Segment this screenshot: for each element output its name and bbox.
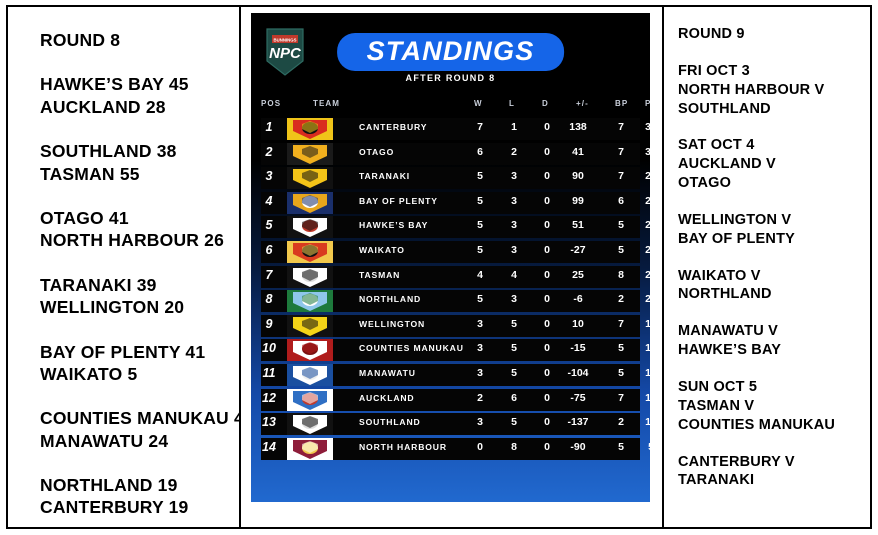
north-harbour-crest-icon — [287, 438, 333, 460]
result-line: COUNTIES MANUKAU 48 — [40, 407, 239, 429]
row-points-diff: -6 — [565, 293, 591, 305]
fixture-line: NORTHLAND — [678, 285, 870, 304]
row-losses: 3 — [501, 244, 527, 256]
row-losses: 5 — [501, 318, 527, 330]
row-draws: 0 — [534, 342, 560, 354]
result-block: HAWKE’S BAY 45AUCKLAND 28 — [40, 73, 239, 118]
fixture-line: NORTH HARBOUR V — [678, 81, 870, 100]
standings-row[interactable]: 11MANAWATU350-104517 — [251, 363, 650, 388]
row-draws: 0 — [534, 269, 560, 281]
waikato-crest-icon — [287, 241, 333, 263]
standings-row[interactable]: 5HAWKE’S BAY53051525 — [251, 215, 650, 240]
row-position: 7 — [259, 268, 279, 282]
row-bonus-points: 7 — [608, 121, 634, 133]
result-block: NORTHLAND 19CANTERBURY 19 — [40, 474, 239, 519]
standings-row[interactable]: 1CANTERBURY710138735 — [251, 117, 650, 142]
row-bonus-points: 7 — [608, 318, 634, 330]
row-points-diff: 10 — [565, 318, 591, 330]
row-draws: 0 — [534, 121, 560, 133]
row-team-name: WAIKATO — [359, 245, 405, 255]
row-losses: 3 — [501, 219, 527, 231]
column-header-d: D — [542, 99, 549, 108]
fixture-line: COUNTIES MANUKAU — [678, 416, 870, 435]
row-points-diff: -137 — [565, 416, 591, 428]
standings-row[interactable]: 12AUCKLAND260-75715 — [251, 388, 650, 413]
row-wins: 5 — [467, 293, 493, 305]
standings-title-pill: STANDINGS — [337, 33, 565, 71]
row-wins: 3 — [467, 318, 493, 330]
row-team-name: TASMAN — [359, 270, 400, 280]
counties-manukau-crest-icon — [287, 339, 333, 361]
row-position: 12 — [259, 391, 279, 405]
hawkes-bay-crest-icon — [287, 216, 333, 238]
row-losses: 3 — [501, 195, 527, 207]
row-position: 11 — [259, 366, 279, 380]
row-losses: 5 — [501, 342, 527, 354]
fixture-block: WAIKATO VNORTHLAND — [678, 267, 870, 305]
round-9-heading-block: ROUND 9 — [678, 25, 870, 44]
row-points-diff: -75 — [565, 392, 591, 404]
standings-graphic-panel: BUNNINGS NPC STANDINGS AFTER ROUND 8 POS… — [241, 7, 664, 527]
row-bonus-points: 6 — [608, 195, 634, 207]
standings-row[interactable]: 2OTAGO62041731 — [251, 142, 650, 167]
fixture-line: SOUTHLAND — [678, 100, 870, 119]
row-points-diff: 99 — [565, 195, 591, 207]
result-line: NORTH HARBOUR 26 — [40, 229, 239, 251]
fixture-line: SAT OCT 4 — [678, 136, 870, 155]
row-position: 14 — [259, 440, 279, 454]
row-bonus-points: 2 — [608, 293, 634, 305]
row-team-name: AUCKLAND — [359, 393, 415, 403]
row-wins: 5 — [467, 195, 493, 207]
fixture-block: CANTERBURY VTARANAKI — [678, 453, 870, 491]
row-losses: 3 — [501, 293, 527, 305]
fixture-line: BAY OF PLENTY — [678, 230, 870, 249]
row-team-name: NORTHLAND — [359, 294, 421, 304]
row-wins: 0 — [467, 441, 493, 453]
svg-text:NPC: NPC — [269, 45, 302, 62]
row-points: 22 — [638, 293, 650, 305]
row-points-diff: 138 — [565, 121, 591, 133]
taranaki-crest-icon — [287, 167, 333, 189]
row-losses: 3 — [501, 170, 527, 182]
row-points: 17 — [638, 367, 650, 379]
row-team-name: CANTERBURY — [359, 122, 427, 132]
svg-text:BUNNINGS: BUNNINGS — [274, 37, 297, 42]
standings-graphic: BUNNINGS NPC STANDINGS AFTER ROUND 8 POS… — [251, 13, 650, 502]
row-wins: 5 — [467, 170, 493, 182]
row-wins: 7 — [467, 121, 493, 133]
fixture-line: MANAWATU V — [678, 322, 870, 341]
column-header-l: L — [509, 99, 515, 108]
row-team-name: SOUTHLAND — [359, 417, 421, 427]
row-points: 25 — [638, 244, 650, 256]
row-position: 13 — [259, 415, 279, 429]
row-position: 6 — [259, 243, 279, 257]
row-wins: 5 — [467, 219, 493, 231]
standings-row[interactable]: 14NORTH HARBOUR080-9055 — [251, 437, 650, 462]
row-points: 25 — [638, 219, 650, 231]
result-line: HAWKE’S BAY 45 — [40, 73, 239, 95]
round-9-fixtures-list: FRI OCT 3NORTH HARBOUR VSOUTHLANDSAT OCT… — [678, 62, 870, 490]
row-losses: 2 — [501, 146, 527, 158]
fixture-line: TARANAKI — [678, 471, 870, 490]
result-line: BAY OF PLENTY 41 — [40, 341, 239, 363]
result-block: OTAGO 41NORTH HARBOUR 26 — [40, 207, 239, 252]
row-points: 27 — [638, 170, 650, 182]
row-wins: 2 — [467, 392, 493, 404]
row-position: 2 — [259, 145, 279, 159]
fixture-line: AUCKLAND V — [678, 155, 870, 174]
row-team-name: TARANAKI — [359, 171, 410, 181]
row-bonus-points: 5 — [608, 244, 634, 256]
row-wins: 3 — [467, 367, 493, 379]
row-wins: 5 — [467, 244, 493, 256]
standings-row[interactable]: 10COUNTIES MANUKAU350-15517 — [251, 338, 650, 363]
row-points-diff: 51 — [565, 219, 591, 231]
row-bonus-points: 2 — [608, 416, 634, 428]
row-points-diff: -27 — [565, 244, 591, 256]
row-points-diff: 90 — [565, 170, 591, 182]
result-line: AUCKLAND 28 — [40, 96, 239, 118]
three-column-frame: ROUND 8 HAWKE’S BAY 45AUCKLAND 28SOUTHLA… — [6, 5, 872, 529]
standings-header: BUNNINGS NPC STANDINGS AFTER ROUND 8 — [251, 13, 650, 97]
auckland-crest-icon — [287, 389, 333, 411]
row-position: 5 — [259, 218, 279, 232]
result-block: BAY OF PLENTY 41WAIKATO 5 — [40, 341, 239, 386]
standings-subtitle: AFTER ROUND 8 — [406, 73, 496, 83]
standings-column-headers: POS TEAM W L D +/- BP PTS — [251, 99, 650, 115]
standings-row[interactable]: 6WAIKATO530-27525 — [251, 240, 650, 265]
fixture-line: WELLINGTON V — [678, 211, 870, 230]
result-block: COUNTIES MANUKAU 48MANAWATU 24 — [40, 407, 239, 452]
row-position: 10 — [259, 341, 279, 355]
round-8-heading: ROUND 8 — [40, 29, 239, 51]
result-line: SOUTHLAND 38 — [40, 140, 239, 162]
result-line: TARANAKI 39 — [40, 274, 239, 296]
tasman-crest-icon — [287, 266, 333, 288]
otago-crest-icon — [287, 143, 333, 165]
column-header-pos: POS — [261, 99, 281, 108]
result-line: WELLINGTON 20 — [40, 296, 239, 318]
row-position: 1 — [259, 120, 279, 134]
canterbury-crest-icon — [287, 118, 333, 140]
row-bonus-points: 5 — [608, 441, 634, 453]
row-points: 24 — [638, 269, 650, 281]
round-9-fixtures-panel: ROUND 9 FRI OCT 3NORTH HARBOUR VSOUTHLAN… — [664, 7, 870, 527]
row-losses: 5 — [501, 367, 527, 379]
column-header-w: W — [474, 99, 483, 108]
row-draws: 0 — [534, 293, 560, 305]
row-bonus-points: 5 — [608, 367, 634, 379]
row-draws: 0 — [534, 367, 560, 379]
row-team-name: OTAGO — [359, 147, 394, 157]
fixture-block: FRI OCT 3NORTH HARBOUR VSOUTHLAND — [678, 62, 870, 119]
result-line: MANAWATU 24 — [40, 430, 239, 452]
northland-crest-icon — [287, 290, 333, 312]
row-position: 9 — [259, 317, 279, 331]
row-draws: 0 — [534, 244, 560, 256]
row-bonus-points: 5 — [608, 342, 634, 354]
row-losses: 1 — [501, 121, 527, 133]
southland-crest-icon — [287, 413, 333, 435]
row-losses: 8 — [501, 441, 527, 453]
standings-row[interactable]: 7TASMAN44025824 — [251, 265, 650, 290]
row-team-name: COUNTIES MANUKAU — [359, 343, 464, 353]
row-points: 35 — [638, 121, 650, 133]
row-points-diff: -104 — [565, 367, 591, 379]
column-header-bp: BP — [615, 99, 628, 108]
npc-bunnings-logo-icon: BUNNINGS NPC — [265, 27, 305, 77]
row-points: 14 — [638, 416, 650, 428]
fixture-block: WELLINGTON VBAY OF PLENTY — [678, 211, 870, 249]
row-draws: 0 — [534, 318, 560, 330]
column-header-team: TEAM — [313, 99, 340, 108]
row-points: 19 — [638, 318, 650, 330]
row-points: 5 — [638, 441, 650, 453]
result-line: OTAGO 41 — [40, 207, 239, 229]
row-team-name: NORTH HARBOUR — [359, 442, 447, 452]
row-draws: 0 — [534, 392, 560, 404]
row-team-name: WELLINGTON — [359, 319, 425, 329]
row-draws: 0 — [534, 146, 560, 158]
row-draws: 0 — [534, 195, 560, 207]
fixture-block: MANAWATU VHAWKE’S BAY — [678, 322, 870, 360]
row-wins: 3 — [467, 342, 493, 354]
row-bonus-points: 7 — [608, 170, 634, 182]
row-team-name: BAY OF PLENTY — [359, 196, 438, 206]
standings-row[interactable]: 3TARANAKI53090727 — [251, 166, 650, 191]
row-points-diff: -15 — [565, 342, 591, 354]
row-position: 8 — [259, 292, 279, 306]
fixture-line: SUN OCT 5 — [678, 378, 870, 397]
row-draws: 0 — [534, 441, 560, 453]
fixture-block: SAT OCT 4AUCKLAND VOTAGO — [678, 136, 870, 193]
column-header-pts: PTS — [645, 99, 650, 108]
wellington-crest-icon — [287, 315, 333, 337]
row-wins: 3 — [467, 416, 493, 428]
row-points: 31 — [638, 146, 650, 158]
row-position: 4 — [259, 194, 279, 208]
standings-row[interactable]: 9WELLINGTON35010719 — [251, 314, 650, 339]
row-bonus-points: 7 — [608, 392, 634, 404]
row-losses: 4 — [501, 269, 527, 281]
fixture-line: CANTERBURY V — [678, 453, 870, 472]
fixture-line: HAWKE’S BAY — [678, 341, 870, 360]
row-position: 3 — [259, 169, 279, 183]
row-bonus-points: 5 — [608, 219, 634, 231]
row-wins: 4 — [467, 269, 493, 281]
standings-title: STANDINGS — [367, 37, 535, 65]
row-bonus-points: 7 — [608, 146, 634, 158]
row-team-name: MANAWATU — [359, 368, 416, 378]
row-draws: 0 — [534, 170, 560, 182]
result-line: WAIKATO 5 — [40, 363, 239, 385]
result-line: CANTERBURY 19 — [40, 496, 239, 518]
screenshot-root: ROUND 8 HAWKE’S BAY 45AUCKLAND 28SOUTHLA… — [0, 0, 878, 535]
round-8-results-panel: ROUND 8 HAWKE’S BAY 45AUCKLAND 28SOUTHLA… — [8, 7, 241, 527]
row-points-diff: 25 — [565, 269, 591, 281]
manawatu-crest-icon — [287, 364, 333, 386]
row-draws: 0 — [534, 219, 560, 231]
row-points: 26 — [638, 195, 650, 207]
column-header-plus-minus: +/- — [576, 99, 589, 108]
row-losses: 5 — [501, 416, 527, 428]
fixture-line: WAIKATO V — [678, 267, 870, 286]
standings-row[interactable]: 4BAY OF PLENTY53099626 — [251, 191, 650, 216]
fixture-line: OTAGO — [678, 174, 870, 193]
result-line: NORTHLAND 19 — [40, 474, 239, 496]
fixture-line: FRI OCT 3 — [678, 62, 870, 81]
fixture-line: TASMAN V — [678, 397, 870, 416]
round-8-heading-block: ROUND 8 — [40, 29, 239, 51]
round-8-results-list: HAWKE’S BAY 45AUCKLAND 28SOUTHLAND 38TAS… — [40, 73, 239, 518]
standings-row[interactable]: 8NORTHLAND530-6222 — [251, 289, 650, 314]
row-points: 17 — [638, 342, 650, 354]
row-draws: 0 — [534, 416, 560, 428]
fixture-block: SUN OCT 5TASMAN VCOUNTIES MANUKAU — [678, 378, 870, 435]
standings-table-body: 1CANTERBURY7101387352OTAGO620417313TARAN… — [251, 115, 650, 461]
row-bonus-points: 8 — [608, 269, 634, 281]
round-9-heading: ROUND 9 — [678, 25, 870, 44]
row-losses: 6 — [501, 392, 527, 404]
row-points-diff: 41 — [565, 146, 591, 158]
bay-of-plenty-crest-icon — [287, 192, 333, 214]
row-team-name: HAWKE’S BAY — [359, 220, 428, 230]
row-wins: 6 — [467, 146, 493, 158]
standings-row[interactable]: 13SOUTHLAND350-137214 — [251, 412, 650, 437]
row-points: 15 — [638, 392, 650, 404]
result-block: SOUTHLAND 38TASMAN 55 — [40, 140, 239, 185]
result-line: TASMAN 55 — [40, 163, 239, 185]
result-block: TARANAKI 39WELLINGTON 20 — [40, 274, 239, 319]
row-points-diff: -90 — [565, 441, 591, 453]
